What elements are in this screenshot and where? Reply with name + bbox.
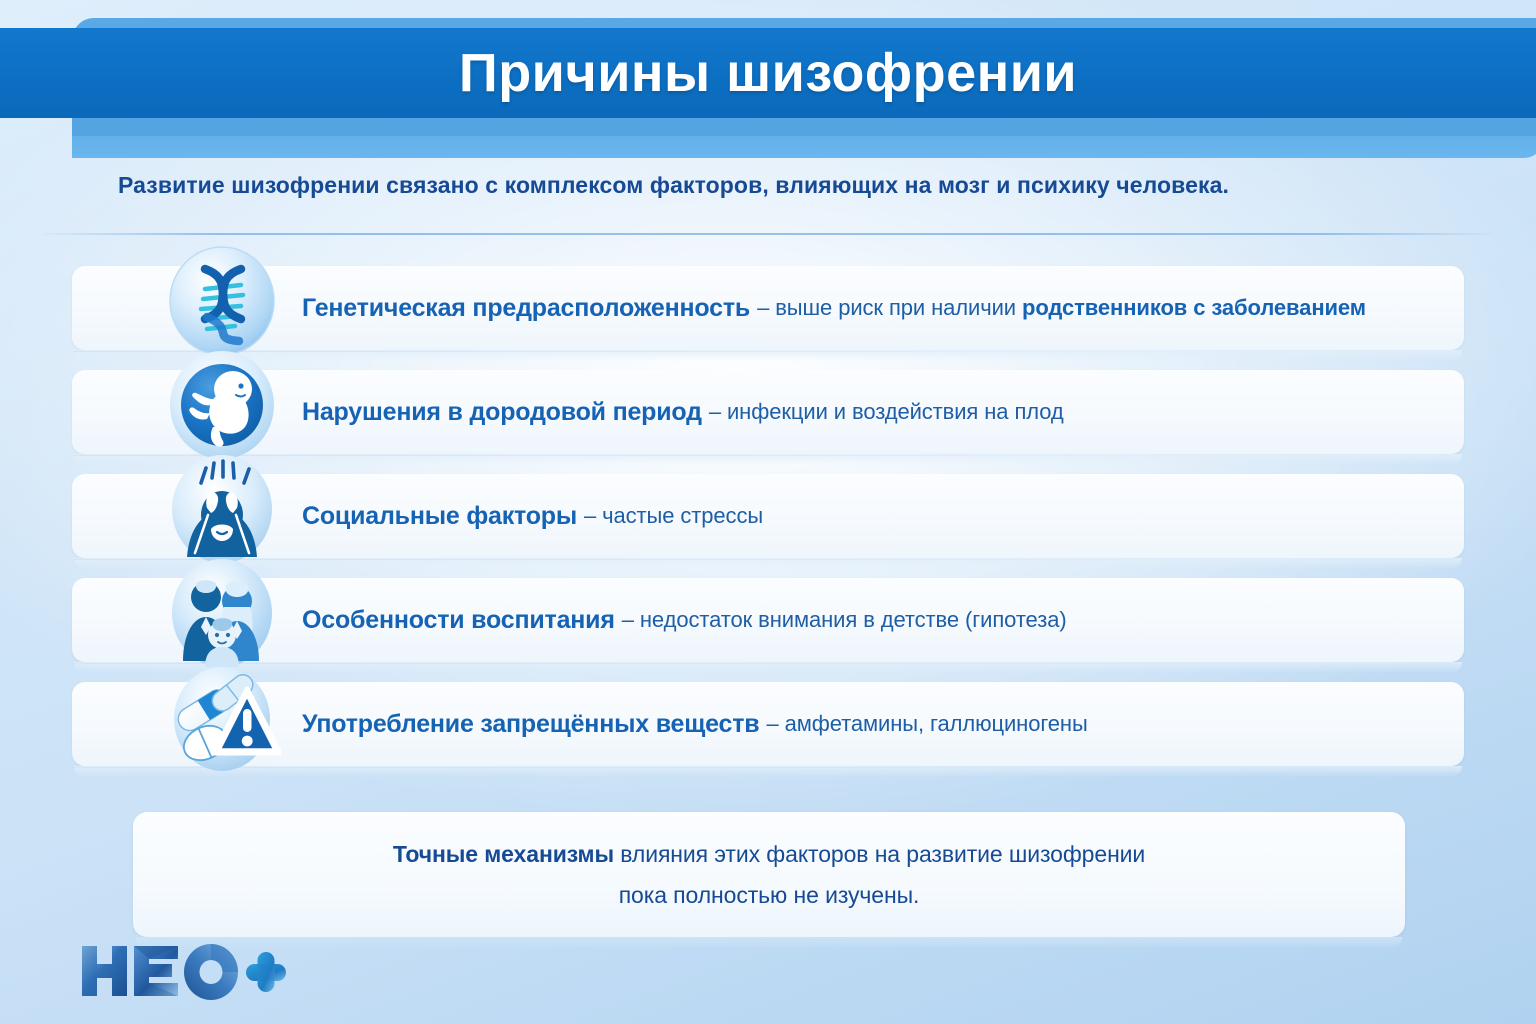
row-title: Генетическая предрасположенность: [302, 294, 750, 323]
neo-plus-logo: [78, 940, 288, 1002]
pills-warning-icon: [163, 661, 281, 779]
row-description: – амфетамины, галлюциногены: [766, 711, 1087, 737]
header: Причины шизофрении: [0, 0, 1536, 145]
conclusion-box: Точные механизмы влияния этих факторов н…: [133, 812, 1405, 937]
row-reflection: [74, 454, 1462, 465]
fetus-icon: [163, 349, 281, 467]
row-description: – частые стрессы: [584, 503, 763, 529]
row-reflection: [74, 558, 1462, 569]
factor-list: Генетическая предрасположенность – выше …: [0, 266, 1536, 786]
row-title: Употребление запрещённых веществ: [302, 710, 759, 739]
row-description: – выше риск при наличии родственников с …: [757, 295, 1366, 321]
conclusion-box-reflection: [136, 937, 1402, 949]
row-description: – недостаток внимания в детстве (гипотез…: [622, 607, 1067, 633]
row-text: Особенности воспитания – недостаток вним…: [302, 578, 1067, 662]
row-description: – инфекции и воздействия на плод: [709, 399, 1064, 425]
conclusion-line-1: Точные механизмы влияния этих факторов н…: [393, 841, 1145, 868]
subtitle-divider: [44, 233, 1492, 235]
row-reflection: [74, 350, 1462, 361]
conclusion-emphasis: Точные механизмы: [393, 841, 614, 867]
infographic-poster: Причины шизофрении Развитие шизофрении с…: [0, 0, 1536, 1024]
row-title: Нарушения в дородовой период: [302, 398, 702, 427]
subtitle: Развитие шизофрении связано с комплексом…: [118, 172, 1438, 199]
header-accent-band-bottom: [72, 136, 1536, 158]
row-reflection: [74, 766, 1462, 777]
row-title: Социальные факторы: [302, 502, 577, 531]
page-title: Причины шизофрении: [0, 28, 1536, 118]
row-text: Генетическая предрасположенность – выше …: [302, 266, 1366, 350]
family-icon: [163, 557, 281, 675]
stressed-person-icon: [163, 453, 281, 571]
row-text: Нарушения в дородовой период – инфекции …: [302, 370, 1064, 454]
conclusion-line-2: пока полностью не изучены.: [619, 882, 920, 909]
conclusion-rest: влияния этих факторов на развитие шизофр…: [614, 841, 1145, 867]
row-text: Социальные факторы – частые стрессы: [302, 474, 763, 558]
row-title: Особенности воспитания: [302, 606, 615, 635]
row-text: Употребление запрещённых веществ – амфет…: [302, 682, 1088, 766]
dna-helix-icon: [163, 245, 281, 363]
list-item: Употребление запрещённых веществ – амфет…: [0, 682, 1536, 779]
row-reflection: [74, 662, 1462, 673]
